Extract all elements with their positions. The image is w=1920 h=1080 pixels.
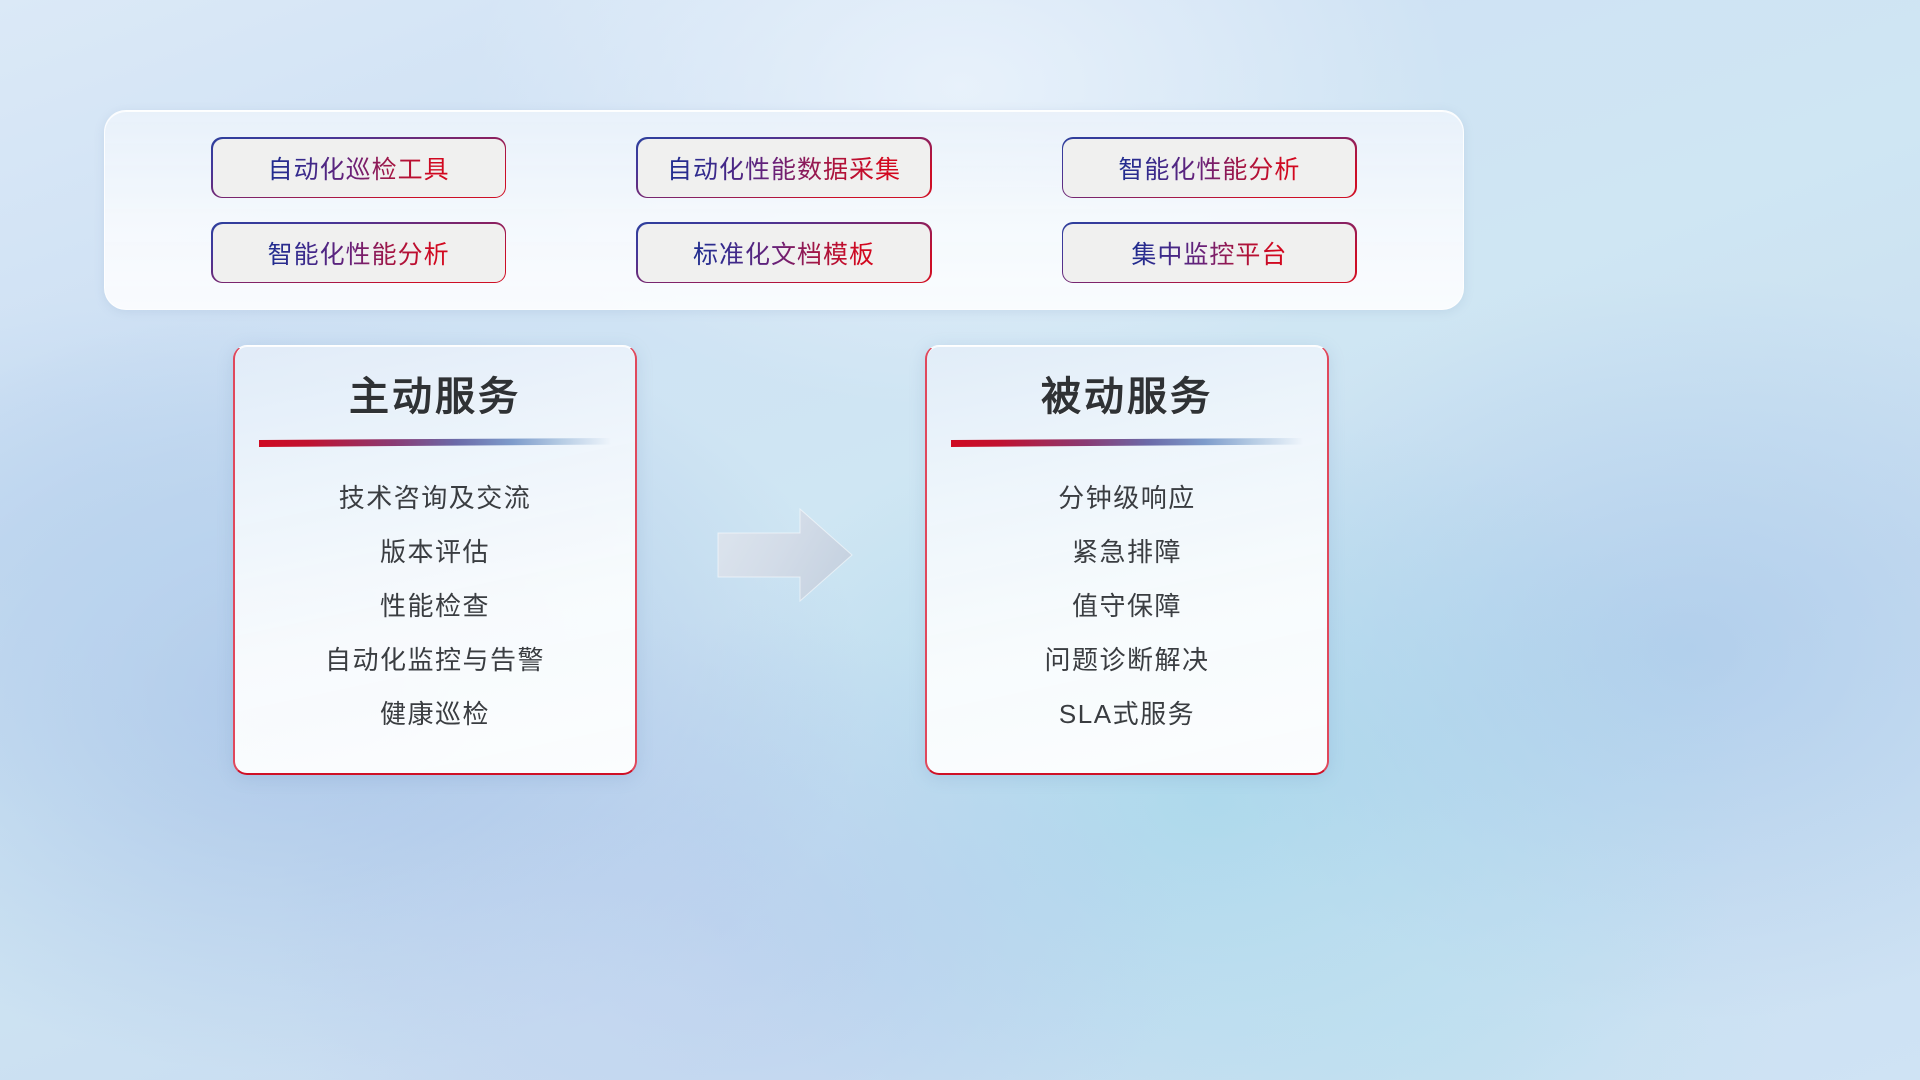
list-item: 自动化监控与告警 — [325, 633, 545, 687]
title-divider — [951, 438, 1303, 447]
capabilities-panel: 自动化巡检工具 自动化性能数据采集 智能化性能分析 智能化性能分析 标准化文档模… — [104, 110, 1464, 310]
passive-service-title: 被动服务 — [1041, 372, 1213, 422]
capability-chip-label: 智能化性能分析 — [268, 235, 450, 271]
capability-chip-6[interactable]: 集中监控平台 — [1063, 224, 1355, 282]
active-service-title: 主动服务 — [349, 372, 521, 422]
active-service-card[interactable]: 主动服务 技术咨询及交流 版本评估 性能检查 自动化监控与告警 健康巡检 — [233, 345, 637, 775]
title-divider — [259, 438, 611, 447]
active-service-list: 技术咨询及交流 版本评估 性能检查 自动化监控与告警 健康巡检 — [253, 471, 617, 741]
capability-chip-label: 智能化性能分析 — [1118, 150, 1300, 186]
list-item: 分钟级响应 — [1058, 471, 1196, 525]
list-item: 紧急排障 — [1072, 525, 1182, 579]
list-item: SLA式服务 — [1059, 687, 1195, 741]
list-item: 健康巡检 — [380, 687, 490, 741]
capability-chip-label: 标准化文档模板 — [693, 235, 875, 271]
capability-chip-2[interactable]: 自动化性能数据采集 — [638, 139, 930, 197]
capability-chip-label: 集中监控平台 — [1131, 235, 1287, 271]
list-item: 性能检查 — [380, 579, 490, 633]
diagram-canvas: 自动化巡检工具 自动化性能数据采集 智能化性能分析 智能化性能分析 标准化文档模… — [0, 0, 1920, 1080]
list-item: 问题诊断解决 — [1044, 633, 1209, 687]
list-item: 值守保障 — [1072, 579, 1182, 633]
list-item: 技术咨询及交流 — [339, 471, 532, 525]
capability-chip-label: 自动化巡检工具 — [268, 150, 450, 186]
capability-chip-1[interactable]: 自动化巡检工具 — [213, 139, 505, 197]
capability-chip-3[interactable]: 智能化性能分析 — [1063, 139, 1355, 197]
capability-chip-label: 自动化性能数据采集 — [667, 150, 901, 186]
capability-chip-4[interactable]: 智能化性能分析 — [213, 224, 505, 282]
list-item: 版本评估 — [380, 525, 490, 579]
capability-chip-5[interactable]: 标准化文档模板 — [638, 224, 930, 282]
passive-service-card[interactable]: 被动服务 分钟级响应 紧急排障 值守保障 问题诊断解决 SLA式服务 — [925, 345, 1329, 775]
right-arrow-icon — [714, 505, 856, 605]
passive-service-list: 分钟级响应 紧急排障 值守保障 问题诊断解决 SLA式服务 — [945, 471, 1309, 741]
